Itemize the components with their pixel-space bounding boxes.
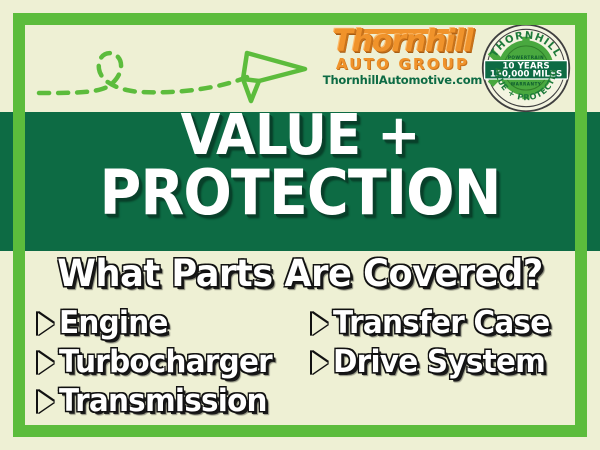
triangle-bullet-icon <box>38 352 54 374</box>
list-item: Drive System <box>312 344 556 381</box>
poster-header: Thornhill AUTO GROUP ThornhillAutomotive… <box>25 25 575 112</box>
logo-website: ThornhillAutomotive.com <box>315 74 490 87</box>
triangle-bullet-icon <box>312 313 328 335</box>
logo-name: Thornhill <box>315 27 490 57</box>
coverage-question: What Parts Are Covered? <box>15 254 585 294</box>
part-label: Engine <box>59 305 168 342</box>
list-item: Engine <box>38 305 173 342</box>
part-label: Transmission <box>59 383 267 420</box>
seal-warranty-label: WARRANTY <box>511 81 542 86</box>
triangle-bullet-icon <box>38 391 54 413</box>
thornhill-logo: Thornhill AUTO GROUP ThornhillAutomotive… <box>315 25 490 87</box>
list-item: Turbocharger <box>38 344 283 381</box>
dashed-loop-arrow-icon <box>33 29 313 109</box>
warranty-seal-icon: THORNHILL POWERTRAIN 10 YEARS 150,000 MI… <box>480 22 572 114</box>
covered-parts-list: Engine Turbocharger Transmission Transfe… <box>38 305 562 422</box>
part-label: Transfer Case <box>333 305 549 342</box>
part-label: Drive System <box>333 344 545 381</box>
triangle-bullet-icon <box>38 313 54 335</box>
list-item: Transfer Case <box>312 305 561 342</box>
triangle-bullet-icon <box>312 352 328 374</box>
parts-column-right: Transfer Case Drive System <box>312 305 562 383</box>
value-protection-poster: Thornhill AUTO GROUP ThornhillAutomotive… <box>0 0 600 450</box>
list-item: Transmission <box>38 383 278 420</box>
seal-powertrain-label: POWERTRAIN <box>508 55 544 60</box>
headline-line-1: VALUE + <box>24 110 576 162</box>
headline-line-2: PROTECTION <box>24 164 576 221</box>
part-label: Turbocharger <box>59 344 272 381</box>
headline: VALUE + PROTECTION <box>0 110 600 221</box>
parts-column-left: Engine Turbocharger Transmission <box>38 305 293 422</box>
